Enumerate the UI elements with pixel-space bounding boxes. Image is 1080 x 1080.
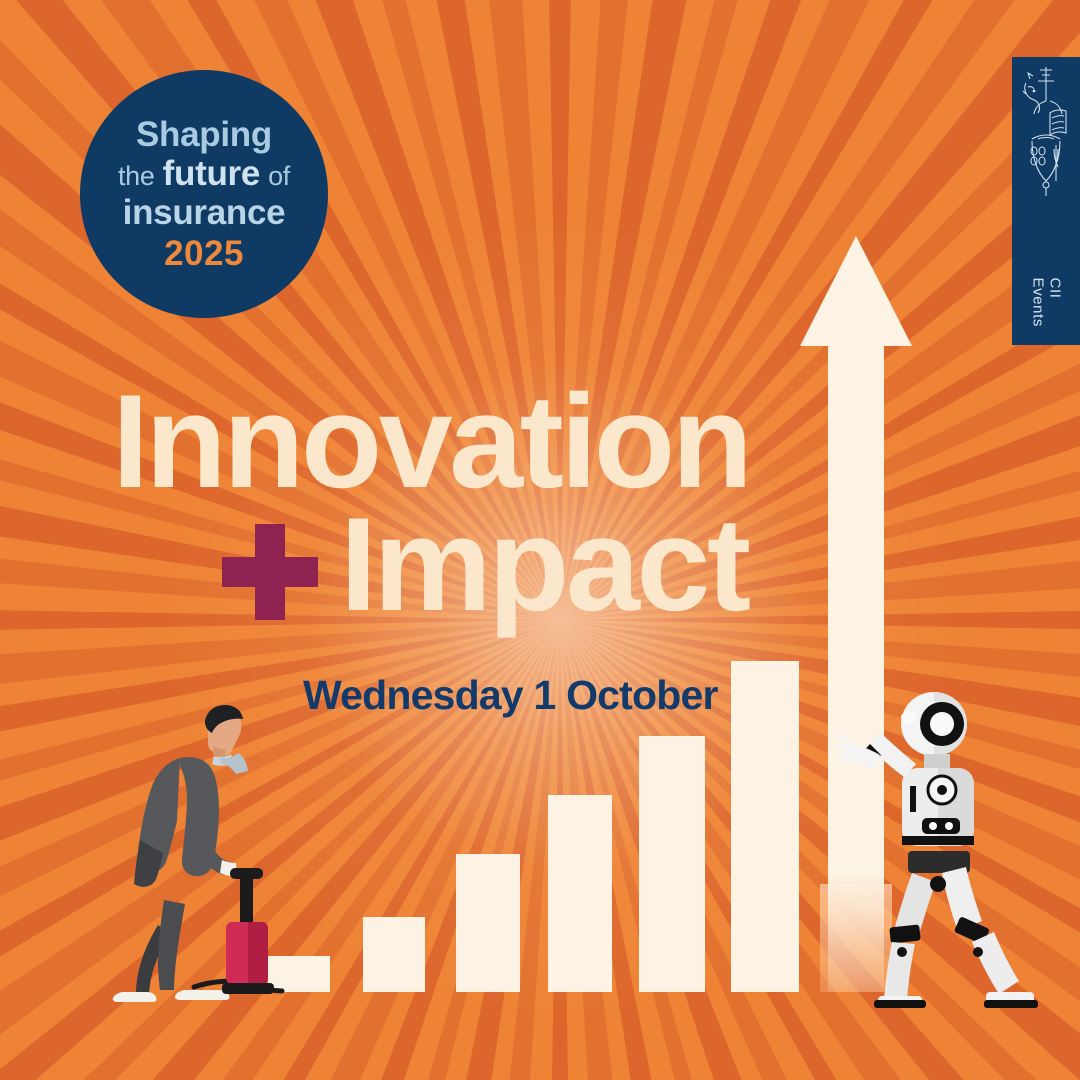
chart-bar-3 <box>456 854 520 992</box>
poster-canvas: Shaping the future of insurance 2025 CII… <box>0 0 1080 1080</box>
headline-line-2-row: Impact <box>222 501 872 630</box>
badge-word-future: future <box>163 154 260 193</box>
cii-heraldic-crest-icon <box>1016 61 1076 221</box>
shaping-the-future-badge: Shaping the future of insurance 2025 <box>80 70 328 318</box>
event-date: Wednesday 1 October <box>303 672 718 719</box>
chart-bar-2 <box>363 917 425 992</box>
logo-line-2: Events <box>1029 278 1046 327</box>
headline-line-1: Innovation <box>112 378 872 507</box>
chart-bar-4 <box>548 795 612 992</box>
badge-line-2: the future of <box>118 155 290 192</box>
badge-line-1: Shaping <box>136 116 272 153</box>
headline-block: Innovation Impact <box>112 378 872 630</box>
badge-line-3: insurance <box>123 194 286 231</box>
humanoid-robot-icon <box>838 656 1048 1008</box>
chart-bar-5 <box>639 736 705 992</box>
badge-word-of: of <box>268 161 290 191</box>
chart-bar-6 <box>731 661 799 992</box>
businessman-with-air-pump-icon <box>62 700 297 1010</box>
plus-symbol-icon <box>222 524 318 620</box>
cii-events-logo-panel: CII Events <box>1012 57 1080 345</box>
cii-events-wordmark: CII Events <box>1029 278 1064 327</box>
badge-year: 2025 <box>164 235 244 272</box>
logo-line-1: CII <box>1046 278 1063 299</box>
arrow-head <box>800 236 912 346</box>
badge-word-the: the <box>118 161 155 191</box>
headline-line-2: Impact <box>340 501 748 630</box>
